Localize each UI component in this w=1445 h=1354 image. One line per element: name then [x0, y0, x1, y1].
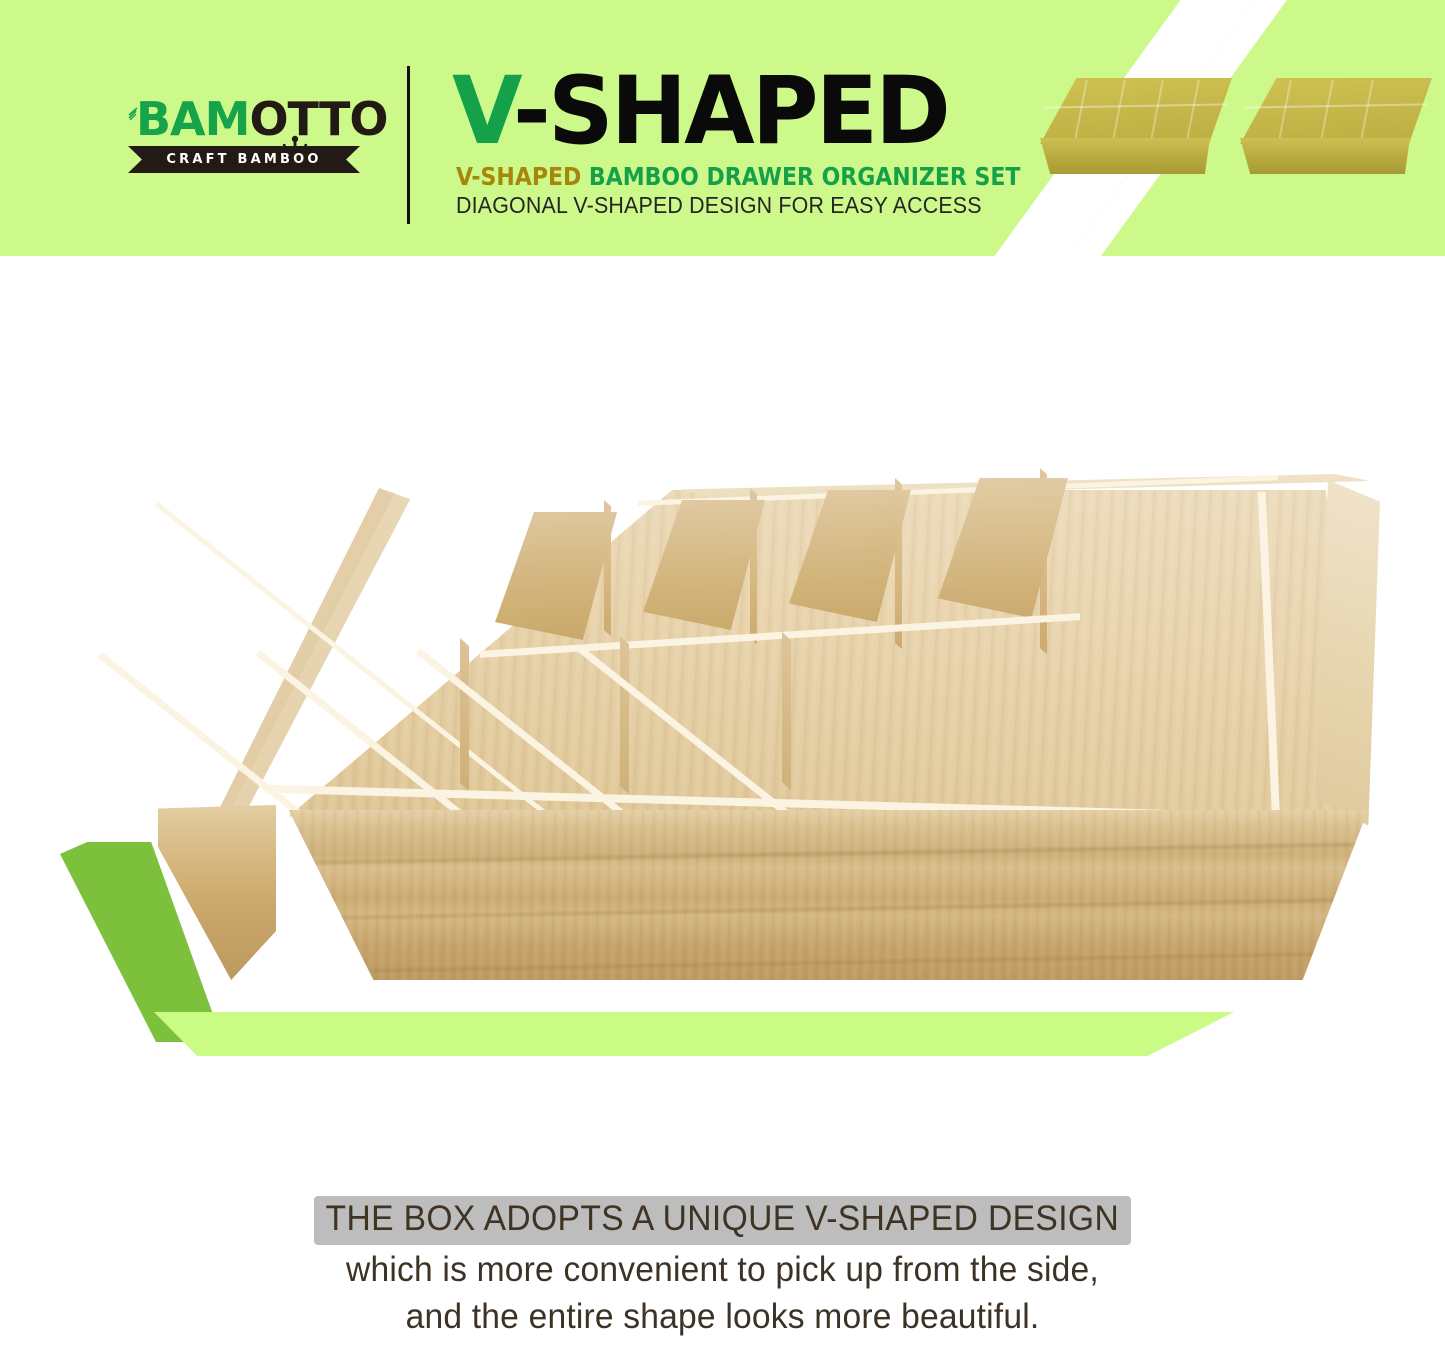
lower-divider-wall-3	[782, 632, 791, 790]
caption-line-2: which is more convenient to pick up from…	[29, 1246, 1416, 1293]
subtitle-green: BAMBOO DRAWER ORGANIZER SET	[581, 162, 1020, 191]
lower-divider-wall-1	[460, 638, 469, 791]
tray-floor-grain	[158, 490, 1368, 830]
tray-front-face	[1040, 138, 1210, 174]
headline-accent: V	[452, 57, 513, 166]
header-product-thumbnail	[1040, 78, 1435, 188]
header-banner: BAMOTTO CRAFT BAMBOO V-SHAPED V-SHAPED B…	[0, 0, 1445, 256]
vertical-divider	[407, 66, 410, 224]
thumbnail-tray-right	[1240, 78, 1432, 186]
tray-front-face	[1240, 138, 1410, 174]
subtitle-gold: V-SHAPED	[456, 162, 581, 191]
page-title: V-SHAPED	[452, 62, 995, 167]
brand-name-part1: BAM	[136, 92, 249, 146]
brand-logo: BAMOTTO CRAFT BAMBOO	[128, 96, 360, 174]
subtitle: V-SHAPED BAMBOO DRAWER ORGANIZER SET	[456, 163, 1020, 190]
brand-name-part2: OTTO	[249, 92, 387, 146]
tagline: DIAGONAL V-SHAPED DESIGN FOR EASY ACCESS	[456, 192, 982, 218]
brand-wordmark: BAMOTTO	[136, 96, 387, 142]
caption-headline-row: THE BOX ADOPTS A UNIQUE V-SHAPED DESIGN	[0, 1196, 1445, 1246]
green-underline-band	[154, 1012, 1234, 1056]
caption-block: THE BOX ADOPTS A UNIQUE V-SHAPED DESIGN …	[0, 1196, 1445, 1354]
tray-front-bands	[158, 810, 1368, 980]
tray-dividers	[1040, 78, 1232, 144]
headline-rest: -SHAPED	[513, 57, 948, 166]
thumbnail-tray-left	[1040, 78, 1232, 186]
ribbon-label: CRAFT BAMBOO	[128, 146, 360, 173]
product-marketing-image: BAMOTTO CRAFT BAMBOO V-SHAPED V-SHAPED B…	[0, 0, 1445, 1354]
product-photo	[110, 460, 1370, 1040]
caption-headline: THE BOX ADOPTS A UNIQUE V-SHAPED DESIGN	[314, 1196, 1131, 1245]
caption-line-3: and the entire shape looks more beautifu…	[29, 1293, 1416, 1340]
lower-divider-wall-2	[620, 636, 629, 794]
tray-dividers	[1240, 78, 1432, 144]
